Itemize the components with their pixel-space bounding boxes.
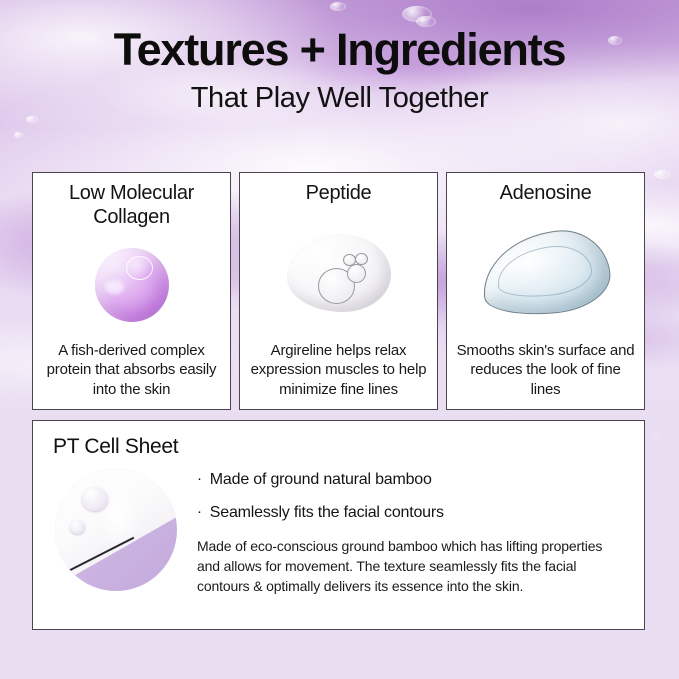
page-subtitle: That Play Well Together <box>0 82 679 115</box>
list-item: · Made of ground natural bamboo <box>197 471 628 489</box>
card-title: Low Molecular Collagen <box>41 182 222 229</box>
header: Textures + Ingredients That Play Well To… <box>0 26 679 115</box>
panel-title: PT Cell Sheet <box>53 435 628 459</box>
card-title: Peptide <box>306 182 372 206</box>
pt-cell-sheet-image <box>55 469 177 591</box>
list-item: · Seamlessly fits the facial contours <box>197 504 628 522</box>
card-description: Smooths skin's surface and reduces the l… <box>455 341 636 402</box>
ingredient-card-adenosine: Adenosine Smooths skin's surface and red… <box>446 172 645 410</box>
list-item-label: Made of ground natural bamboo <box>210 471 432 489</box>
bullet-icon: · <box>197 471 202 486</box>
adenosine-gel-drop-icon <box>455 206 636 341</box>
peptide-gel-blob-icon <box>248 206 429 341</box>
card-description: Argireline helps relax expression muscle… <box>248 341 429 402</box>
ingredient-card-collagen: Low Molecular Collagen A fish-derived co… <box>32 172 231 410</box>
panel-paragraph: Made of eco-conscious ground bamboo whic… <box>197 537 628 597</box>
product-infographic: Textures + Ingredients That Play Well To… <box>0 0 679 679</box>
collagen-sphere-icon <box>41 229 222 340</box>
page-title: Textures + Ingredients <box>0 26 679 73</box>
ingredient-card-row: Low Molecular Collagen A fish-derived co… <box>32 172 645 410</box>
list-item-label: Seamlessly fits the facial contours <box>210 504 444 522</box>
ingredient-card-peptide: Peptide Argireline helps relax expressio… <box>239 172 438 410</box>
card-title: Adenosine <box>500 182 592 206</box>
card-description: A fish-derived complex protein that abso… <box>41 341 222 402</box>
bullet-icon: · <box>197 504 202 519</box>
pt-cell-sheet-panel: PT Cell Sheet · Made of ground natural b… <box>32 420 645 630</box>
